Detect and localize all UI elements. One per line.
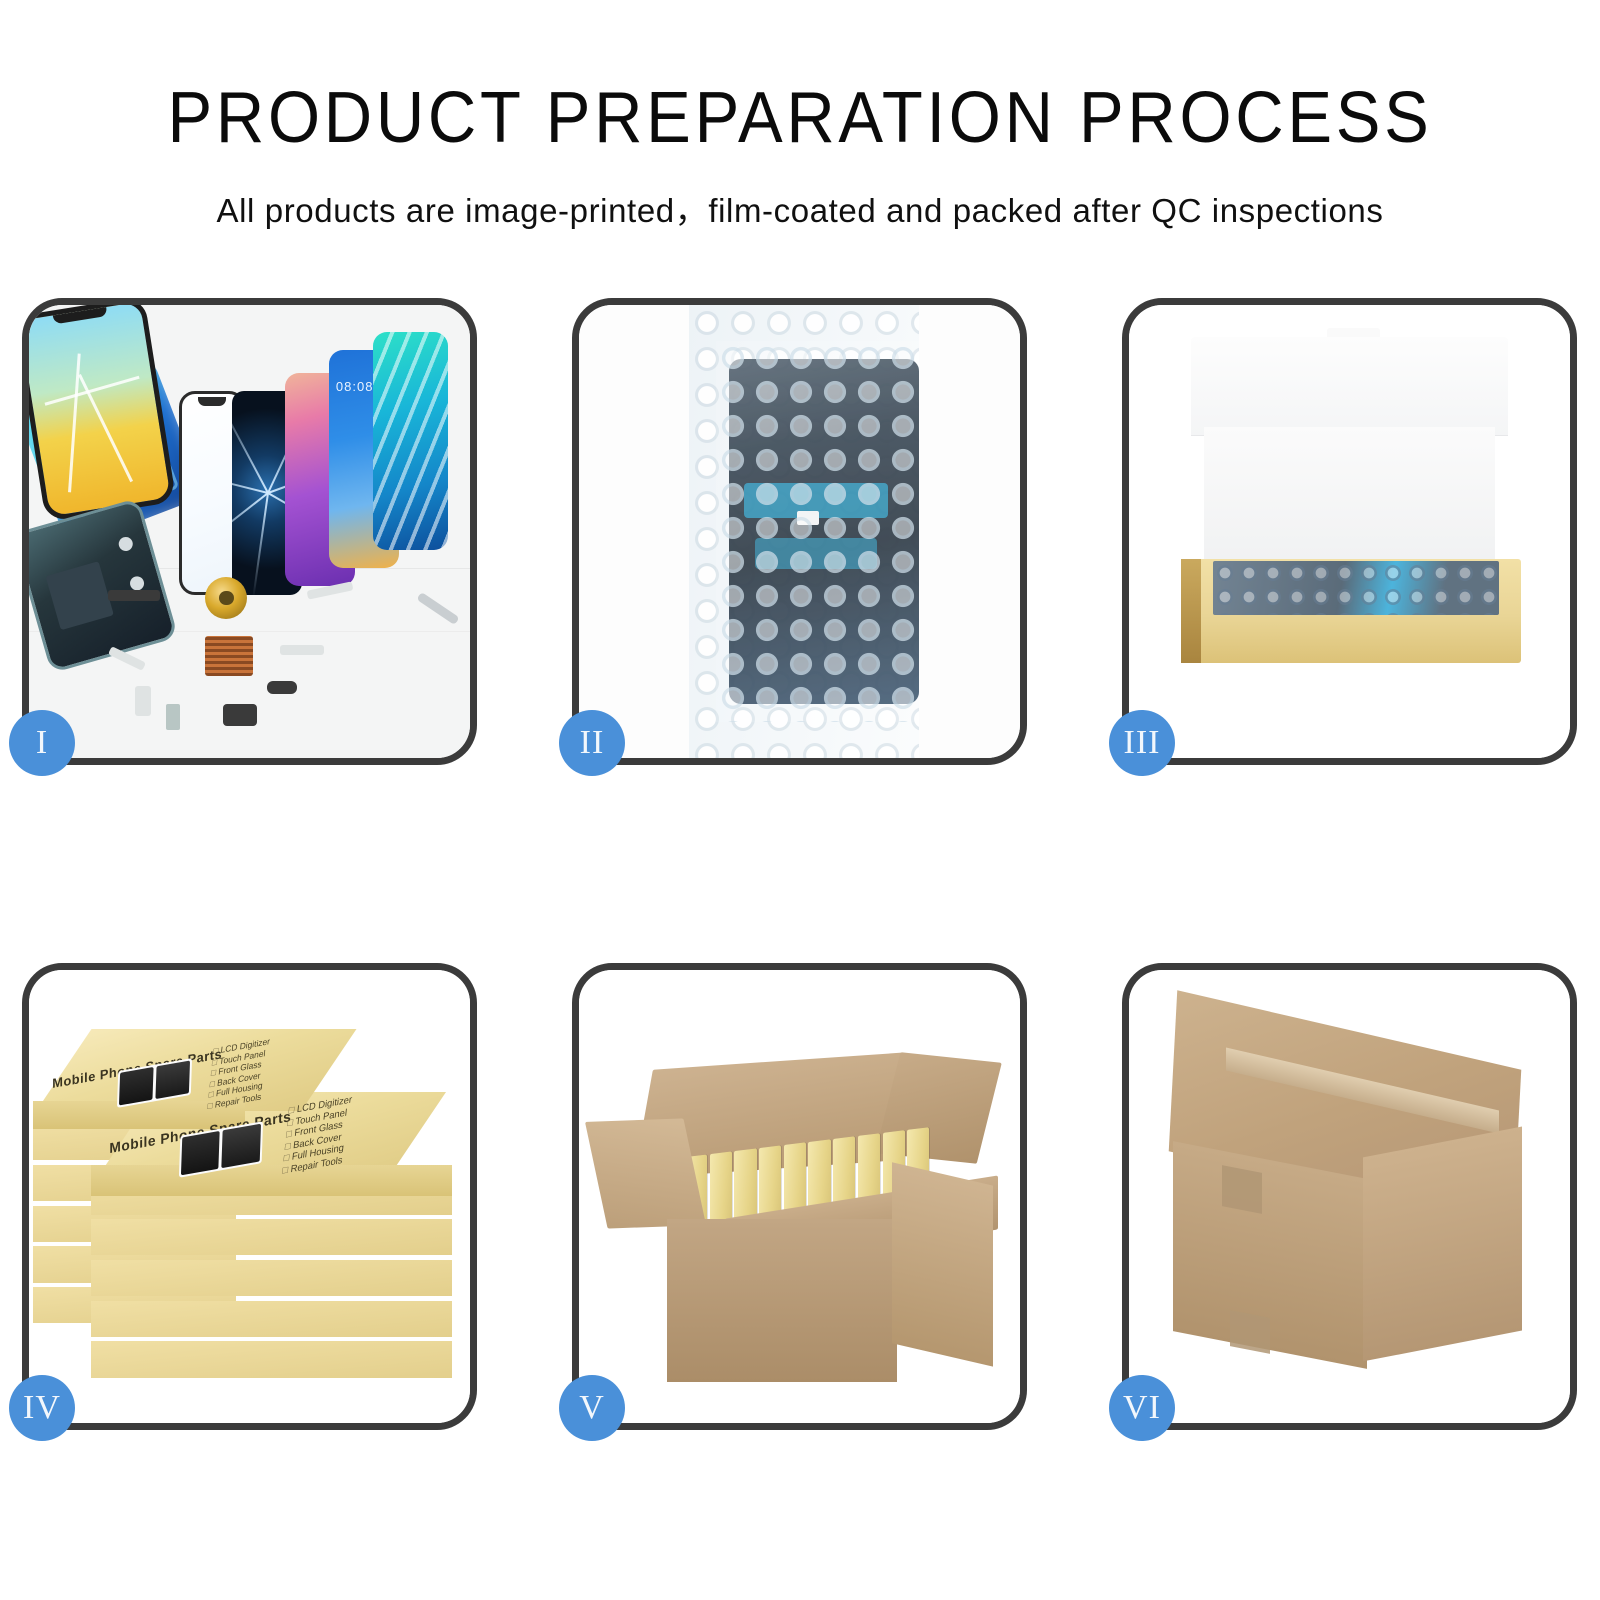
step-badge-1: I: [9, 710, 75, 776]
step-1-image: 08:08: [29, 305, 470, 758]
process-step-2: II: [572, 298, 1027, 765]
retail-box-stack-right: [91, 1219, 453, 1255]
taptic-coil-part: [205, 577, 247, 619]
sealed-carton-side-face: [1363, 1127, 1522, 1362]
retail-box-stack-right: [91, 1341, 453, 1377]
step-badge-6: VI: [1109, 1375, 1175, 1441]
retail-box-stack-right: [91, 1260, 453, 1296]
process-step-4: Mobile Phone Spare Parts LCD Digitizer T…: [22, 963, 477, 1430]
tape-tab-upper: [1222, 1165, 1262, 1213]
header: PRODUCT PREPARATION PROCESS All products…: [0, 0, 1600, 232]
step-3-image: [1129, 305, 1570, 758]
teal-wave-phone-screen: [373, 332, 448, 549]
step-5-image: [579, 970, 1020, 1423]
bubble-overlay: [716, 341, 919, 722]
step-badge-5: V: [559, 1375, 625, 1441]
power-flex-cable-part: [280, 645, 324, 655]
step-6-image: [1129, 970, 1570, 1423]
copper-shield-part: [205, 636, 253, 676]
earpiece-mesh-part: [108, 590, 160, 601]
step-badge-3: III: [1109, 710, 1175, 776]
box-lid-flap: [1191, 337, 1509, 437]
step-2-image: [579, 305, 1020, 758]
sealed-carton-front-face: [1173, 1141, 1367, 1369]
product-preparation-infographic: PRODUCT PREPARATION PROCESS All products…: [0, 0, 1600, 1600]
sim-tray-part: [166, 704, 180, 730]
retail-box-side-face: [91, 1165, 453, 1197]
process-step-grid: 08:08: [22, 298, 1578, 1430]
speaker-module-part: [223, 704, 257, 726]
phone-back-housing: [29, 498, 179, 674]
retail-box-stack-right: [91, 1301, 453, 1337]
tape-tab-lower: [1230, 1310, 1270, 1354]
process-step-6: VI: [1122, 963, 1577, 1430]
bubble-wrapped-contents: [1213, 561, 1500, 615]
step-badge-2: II: [559, 710, 625, 776]
process-step-5: V: [572, 963, 1027, 1430]
process-step-3: III: [1122, 298, 1577, 765]
tweezers-tool: [417, 592, 460, 625]
carton-front-face: [667, 1219, 896, 1382]
retail-box-checklist: LCD Digitizer Touch Panel Front Glass Ba…: [207, 1036, 271, 1111]
phone-clock-text: 08:08: [336, 379, 374, 394]
retail-box-checklist: LCD Digitizer Touch Panel Front Glass Ba…: [282, 1095, 353, 1178]
broken-phone-display: [29, 305, 177, 522]
step-4-image: Mobile Phone Spare Parts LCD Digitizer T…: [29, 970, 470, 1423]
ic-chip-part: [267, 681, 297, 694]
box-inner-back: [1204, 427, 1495, 572]
process-step-1: 08:08: [22, 298, 477, 765]
antenna-flex-part: [135, 686, 151, 716]
step-badge-4: IV: [9, 1375, 75, 1441]
carton-side-face: [892, 1162, 993, 1367]
page-title: PRODUCT PREPARATION PROCESS: [56, 82, 1544, 154]
page-subtitle: All products are image-printed，film-coat…: [0, 184, 1600, 232]
